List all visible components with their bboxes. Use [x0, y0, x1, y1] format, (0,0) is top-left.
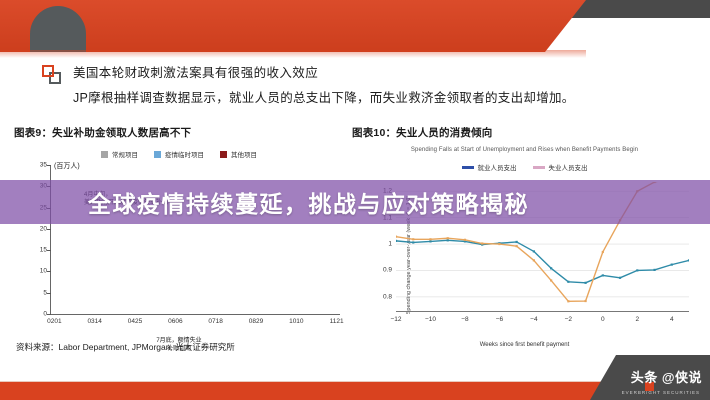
chart10-y-tick: 0.8 [383, 293, 392, 300]
chart10-data-marker [396, 240, 397, 242]
legend-label-other: 其他项目 [231, 149, 257, 159]
chart10-data-marker [584, 300, 586, 302]
chart10-data-marker [567, 281, 569, 283]
top-decoration-banner [0, 0, 710, 52]
chart-panel-unemployment-claims: 图表9：失业补助金领取人数居高不下 常规项目 疫情临时项目 其他项目 (百万人)… [14, 125, 344, 370]
chart10-data-marker [533, 259, 535, 261]
chart9-y-tick-mark [47, 271, 51, 272]
chart10-data-marker [464, 239, 466, 241]
chart10-data-marker [447, 237, 449, 239]
chart10-data-marker [550, 279, 552, 281]
legend-label-temporary: 疫情临时项目 [165, 149, 204, 159]
chart10-y-tick: 0.9 [383, 267, 392, 274]
chart9-legend: 常规项目 疫情临时项目 其他项目 [14, 149, 344, 159]
chart10-x-tick: −6 [496, 316, 503, 323]
legend-swatch-unemployed-spending [533, 166, 545, 169]
chart9-y-tick-mark [47, 293, 51, 294]
chart10-data-marker [516, 241, 518, 243]
chart10-title: 图表10：失业人员的消费倾向 [352, 125, 697, 140]
chart10-data-marker [550, 267, 552, 269]
overlay-title-banner: 全球疫情持续蔓延，挑战与应对策略揭秘 [0, 180, 710, 224]
chart9-title: 图表9：失业补助金领取人数居高不下 [14, 125, 344, 140]
chart10-data-marker [412, 238, 414, 240]
chart10-data-marker [602, 251, 604, 253]
chart10-subtitle: Spending Falls at Start of Unemployment … [352, 147, 697, 153]
chart10-data-marker [671, 264, 673, 266]
legend-item-temporary: 疫情临时项目 [154, 149, 204, 159]
chart9-x-tick: 0718 [208, 318, 222, 325]
chart9-y-tick: 15 [40, 247, 47, 254]
chart9-y-tick-mark [47, 229, 51, 230]
chart10-series-line [396, 240, 689, 282]
chart10-x-tick: −2 [565, 316, 572, 323]
overlay-title-text: 全球疫情持续蔓延，挑战与应对策略揭秘 [88, 185, 529, 219]
chart10-data-marker [396, 236, 397, 238]
chart9-x-tick: 1010 [289, 318, 303, 325]
heading-block: 美国本轮财政刺激法案具有很强的收入效应 JP摩根抽样调查数据显示，就业人员的总支… [0, 56, 710, 118]
chart10-data-marker [447, 239, 449, 241]
chart10-x-tick: −12 [390, 316, 401, 323]
chart-panel-spending-propensity: 图表10：失业人员的消费倾向 Spending Falls at Start o… [352, 125, 697, 370]
chart10-x-tick: 4 [670, 316, 674, 323]
legend-swatch-employed-spending [462, 166, 474, 169]
legend-label-regular: 常规项目 [112, 149, 138, 159]
chart10-x-tick: −10 [425, 316, 436, 323]
chart9-x-tick: 0314 [87, 318, 101, 325]
watermark: 头条 @侠说 EVERBRIGHT SECURITIES [590, 355, 710, 400]
chart10-data-marker [619, 277, 621, 279]
chart10-x-tick: 0 [601, 316, 605, 323]
watermark-text: 头条 @侠说 [631, 367, 702, 386]
chart10-x-tick: −8 [461, 316, 468, 323]
chart9-x-tick: 0829 [249, 318, 263, 325]
chart10-data-marker [602, 274, 604, 276]
chart10-data-marker [429, 238, 431, 240]
chart9-y-tick-mark [47, 165, 51, 166]
legend-item-employed-spending: 就业人员支出 [462, 162, 517, 172]
chart10-data-marker [429, 240, 431, 242]
legend-item-unemployed-spending: 失业人员支出 [533, 162, 588, 172]
chart9-x-tick: 1121 [330, 318, 344, 325]
chart9-y-tick-mark [47, 250, 51, 251]
chart10-data-marker [584, 282, 586, 284]
chart9-source: 资料来源：Labor Department, JPMorgan, 光大证券研究所 [16, 341, 235, 353]
heading-line-2: JP摩根抽样调查数据显示，就业人员的总支出下降，而失业救济金领取者的支出却增加。 [73, 87, 575, 106]
legend-item-regular: 常规项目 [101, 149, 138, 159]
double-square-icon [42, 65, 62, 85]
chart9-x-tick: 0201 [47, 318, 61, 325]
chart10-data-marker [498, 243, 500, 245]
top-orange-shade [0, 0, 586, 52]
legend-label-employed-spending: 就业人员支出 [478, 162, 517, 172]
chart10-x-tick: 2 [635, 316, 639, 323]
chart10-data-marker [688, 259, 689, 261]
heading-line-1: 美国本轮财政刺激法案具有很强的收入效应 [73, 62, 318, 81]
chart10-data-marker [516, 245, 518, 247]
chart9-y-tick: 35 [40, 162, 47, 169]
legend-item-other: 其他项目 [220, 149, 257, 159]
chart9-x-tick: 0425 [128, 318, 142, 325]
chart10-x-axis-label: Weeks since first benefit payment [352, 342, 697, 348]
chart10-x-tick: −4 [530, 316, 537, 323]
chart10-y-tick: 1 [388, 241, 392, 248]
legend-label-unemployed-spending: 失业人员支出 [549, 162, 588, 172]
legend-swatch-temporary [154, 151, 161, 158]
watermark-subtext: EVERBRIGHT SECURITIES [622, 390, 700, 395]
chart10-data-marker [653, 269, 655, 271]
chart10-data-marker [412, 241, 414, 243]
legend-swatch-other [220, 151, 227, 158]
chart9-y-tick: 20 [40, 225, 47, 232]
chart10-data-marker [636, 269, 638, 271]
chart10-legend: 就业人员支出 失业人员支出 [352, 162, 697, 172]
chart9-x-tick: 0606 [168, 318, 182, 325]
chart10-data-marker [567, 300, 569, 302]
chart10-data-marker [533, 250, 535, 252]
chart10-data-marker [481, 242, 483, 244]
chart9-y-tick: 10 [40, 268, 47, 275]
legend-swatch-regular [101, 151, 108, 158]
chart9-y-tick-mark [47, 314, 51, 315]
